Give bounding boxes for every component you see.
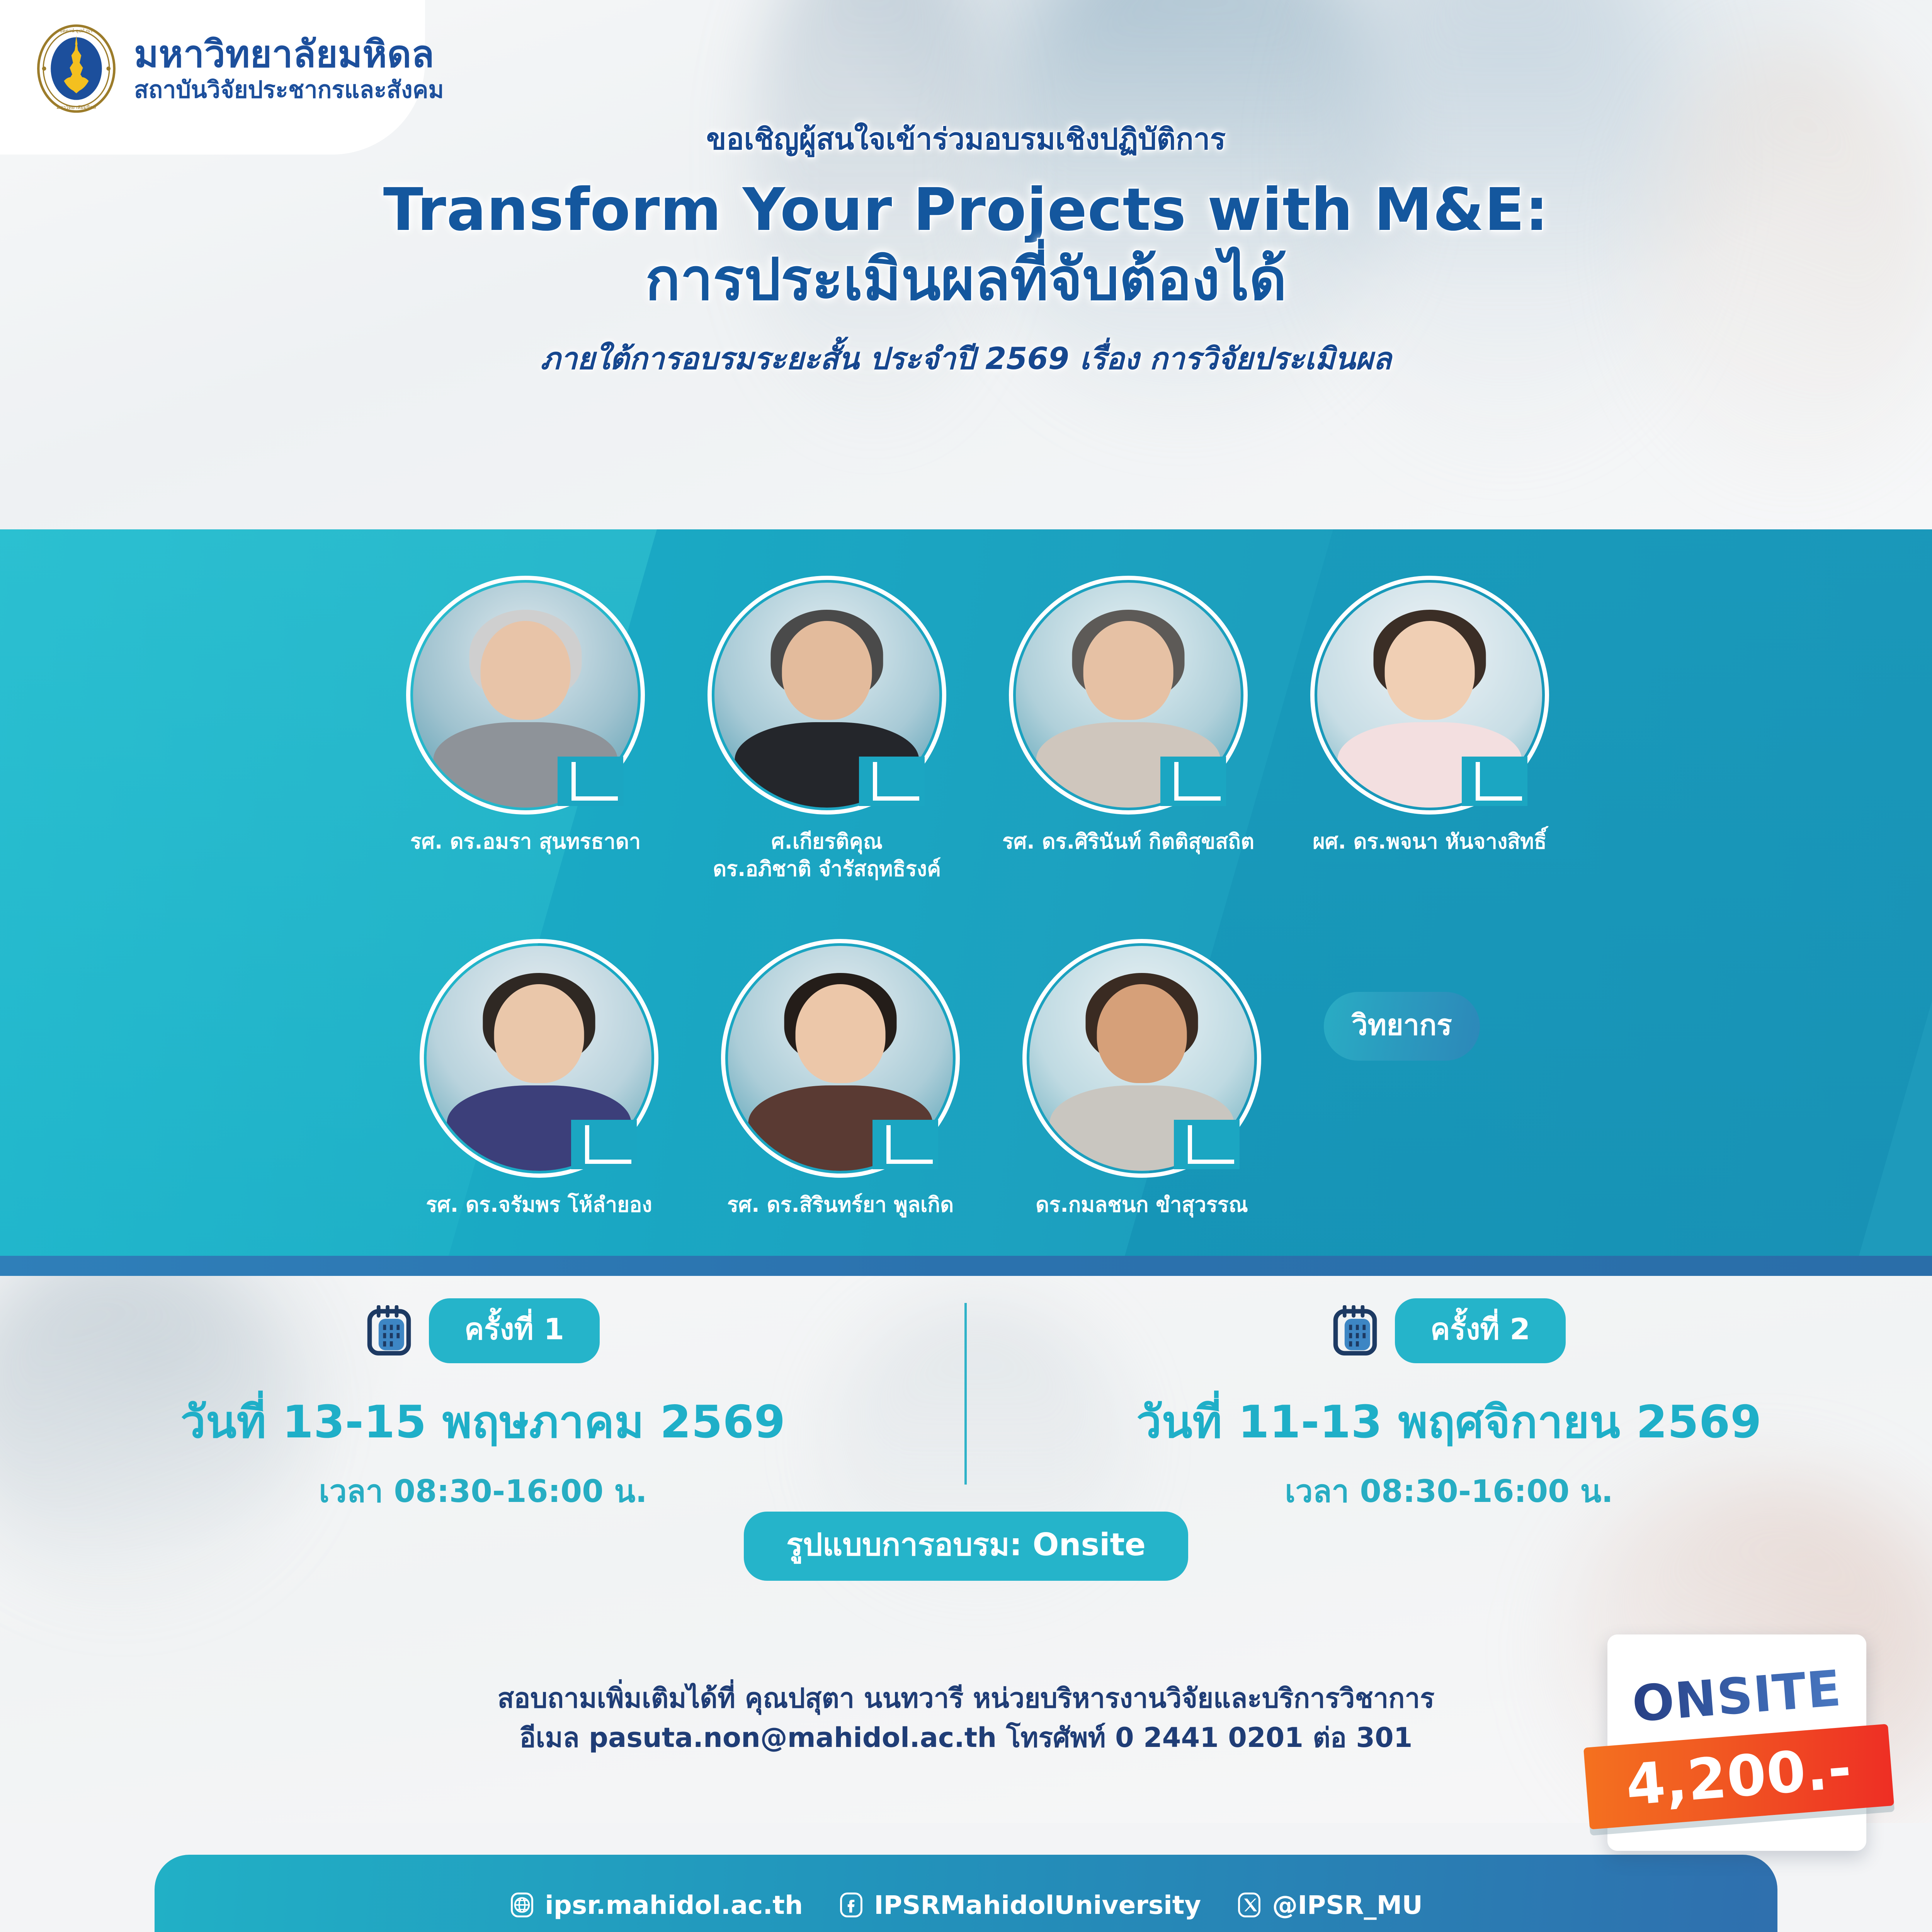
- speaker-card: ดร.กมลชนก ขำสุวรรณ: [1018, 939, 1265, 1218]
- speaker-card: รศ. ดร.สิรินทร์ยา พูลเกิด: [717, 939, 964, 1218]
- speaker-card: ศ.เกียรติคุณ ดร.อภิชาติ จำรัสฤทธิรงค์: [703, 576, 951, 883]
- speaker-card: รศ. ดร.อมรา สุนทรธาดา: [402, 576, 649, 883]
- speaker-name: รศ. ดร.จรัมพร โห้ลำยอง: [392, 1191, 686, 1218]
- calendar-icon: [366, 1305, 412, 1356]
- price-amount: 4,200.-: [1624, 1735, 1854, 1818]
- session-chip: ครั้งที่ 2: [1395, 1298, 1566, 1363]
- footer-facebook-label: IPSRMahidolUniversity: [874, 1890, 1201, 1920]
- speaker-name: รศ. ดร.สิรินทร์ยา พูลเกิด: [694, 1191, 987, 1218]
- speaker-name: ศ.เกียรติคุณ ดร.อภิชาติ จำรัสฤทธิรงค์: [680, 828, 974, 883]
- speaker-name: ผศ. ดร.พจนา หันจางสิทธิ์: [1283, 828, 1577, 855]
- speaker-card: รศ. ดร.ศิรินันท์ กิตติสุขสถิต: [1005, 576, 1252, 883]
- hero-kicker: ขอเชิญผู้สนใจเข้าร่วมอบรมเชิงปฏิบัติการ: [0, 116, 1932, 162]
- speaker-avatar: [406, 576, 645, 815]
- footer-x[interactable]: @IPSR_MU: [1236, 1890, 1423, 1920]
- globe-icon: [509, 1892, 535, 1918]
- footer-x-label: @IPSR_MU: [1272, 1890, 1423, 1920]
- price-sticker: ONSITE 4,200.-: [1607, 1634, 1866, 1851]
- session-time: เวลา 08:30-16:00 น.: [1285, 1467, 1613, 1516]
- svg-text:มหาวิทยาลัยมหิดล: มหาวิทยาลัยมหิดล: [56, 105, 96, 111]
- speaker-name: รศ. ดร.อมรา สุนทรธาดา: [379, 828, 672, 855]
- section-divider: [0, 1256, 1932, 1276]
- speaker-avatar: [1310, 576, 1549, 815]
- hero-copy: ขอเชิญผู้สนใจเข้าร่วมอบรมเชิงปฏิบัติการ …: [0, 116, 1932, 383]
- session-header: ครั้งที่ 2: [1332, 1298, 1566, 1363]
- session-card-2: ครั้งที่ 2 วันที่ 11-13 พฤศจิกายน 2569 เ…: [966, 1298, 1932, 1516]
- x-twitter-icon: [1236, 1892, 1262, 1918]
- session-chip: ครั้งที่ 1: [429, 1298, 600, 1363]
- speaker-name: ดร.กมลชนก ขำสุวรรณ: [995, 1191, 1289, 1218]
- session-date: วันที่ 11-13 พฤศจิกายน 2569: [1136, 1386, 1762, 1458]
- price-label: ONSITE: [1605, 1658, 1868, 1735]
- speaker-card: ผศ. ดร.พจนา หันจางสิทธิ์: [1306, 576, 1553, 883]
- poster-root: อตฺตานํ อุปมํ กเร มหาวิทยาลัยมหิดล มหาวิ…: [0, 0, 1932, 1932]
- speakers-row-1: รศ. ดร.อมรา สุนทรธาดา ศ.เกียรติคุณ ดร.อภ…: [0, 576, 1932, 883]
- mahidol-university-seal-icon: อตฺตานํ อุปมํ กเร มหาวิทยาลัยมหิดล: [35, 23, 118, 114]
- footer-website[interactable]: ipsr.mahidol.ac.th: [509, 1890, 803, 1920]
- brand-logo: อตฺตานํ อุปมํ กเร มหาวิทยาลัยมหิดล มหาวิ…: [35, 23, 444, 114]
- speaker-avatar: [707, 576, 946, 815]
- svg-text:อตฺตานํ อุปมํ กเร: อตฺตานํ อุปมํ กเร: [60, 28, 92, 34]
- hero-title-thai: การประเมินผลที่จับต้องได้: [0, 245, 1932, 315]
- speaker-avatar: [420, 939, 658, 1178]
- session-header: ครั้งที่ 1: [366, 1298, 600, 1363]
- speaker-avatar: [1009, 576, 1248, 815]
- hero-subtitle-prefix: ภายใต้การอบรมระยะสั้น ประจำปี 2569 เรื่อ…: [541, 342, 1150, 376]
- hero-subtitle: ภายใต้การอบรมระยะสั้น ประจำปี 2569 เรื่อ…: [0, 335, 1932, 383]
- footer-bar: ipsr.mahidol.ac.th IPSRMahidolUniversity…: [155, 1855, 1777, 1932]
- price-band: 4,200.-: [1583, 1724, 1894, 1829]
- training-mode-chip: รูปแบบการอบรม: Onsite: [744, 1512, 1188, 1581]
- speakers-badge: วิทยากร: [1324, 992, 1480, 1061]
- speaker-card: รศ. ดร.จรัมพร โห้ลำยอง: [415, 939, 663, 1218]
- speakers-row-2: รศ. ดร.จรัมพร โห้ลำยอง รศ. ดร.สิรินทร์ยา…: [0, 939, 1932, 1218]
- institute-name: สถาบันวิจัยประชากรและสังคม: [134, 78, 444, 102]
- session-card-1: ครั้งที่ 1 วันที่ 13-15 พฤษภาคม 2569 เวล…: [0, 1298, 966, 1516]
- session-date: วันที่ 13-15 พฤษภาคม 2569: [180, 1386, 786, 1458]
- session-separator: [964, 1303, 967, 1485]
- footer-website-label: ipsr.mahidol.ac.th: [545, 1890, 803, 1920]
- speaker-avatar: [1022, 939, 1261, 1178]
- speakers-section: รศ. ดร.อมรา สุนทรธาดา ศ.เกียรติคุณ ดร.อภ…: [0, 529, 1932, 1256]
- session-time: เวลา 08:30-16:00 น.: [319, 1467, 647, 1516]
- hero-title-english: Transform Your Projects with M&E:: [0, 177, 1932, 243]
- hero-subtitle-strong: การวิจัยประเมินผล: [1150, 342, 1391, 376]
- speaker-avatar: [721, 939, 960, 1178]
- university-name: มหาวิทยาลัยมหิดล: [134, 36, 444, 73]
- facebook-icon: [838, 1892, 864, 1918]
- speaker-name: รศ. ดร.ศิรินันท์ กิตติสุขสถิต: [981, 828, 1275, 855]
- calendar-icon: [1332, 1305, 1378, 1356]
- footer-facebook[interactable]: IPSRMahidolUniversity: [838, 1890, 1201, 1920]
